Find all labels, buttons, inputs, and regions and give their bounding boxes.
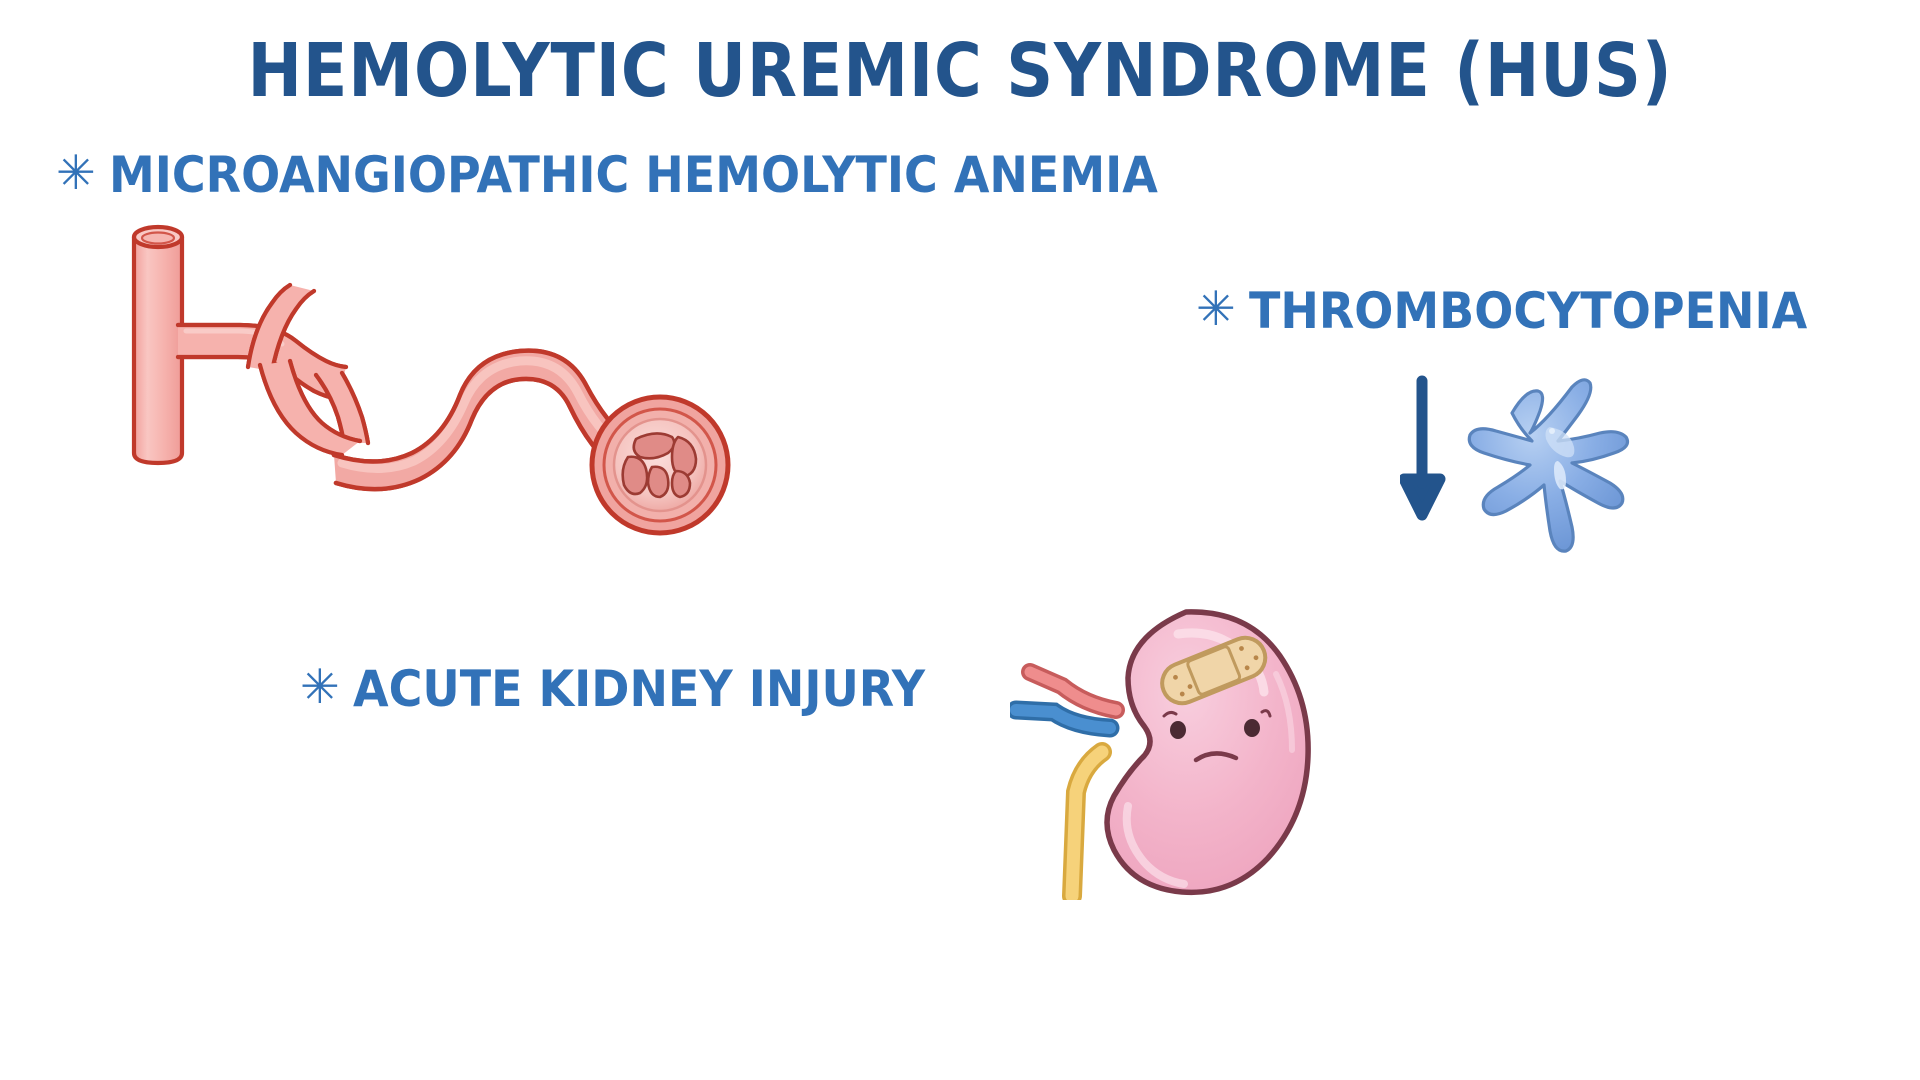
activated-platelet-icon — [1469, 380, 1627, 551]
illustration-canvas: HEMOLYTIC UREMIC SYNDROME (HUS) ✳ MICROA… — [0, 0, 1920, 1080]
bullet-label-acute-kidney-injury: ACUTE KIDNEY INJURY — [353, 660, 925, 718]
bullet-label-microangiopathic-hemolytic-anemia: MICROANGIOPATHIC HEMOLYTIC ANEMIA — [109, 146, 1158, 204]
asterisk-bullet-icon: ✳ — [300, 664, 340, 712]
bullet-thrombocytopenia: ✳ THROMBOCYTOPENIA — [1196, 282, 1856, 340]
schistocyte — [648, 467, 668, 497]
left-eye — [1170, 721, 1186, 739]
bullet-acute-kidney-injury: ✳ ACUTE KIDNEY INJURY — [300, 660, 975, 718]
schistocyte — [672, 471, 690, 497]
ureter — [1072, 752, 1102, 896]
down-arrow-icon — [1404, 381, 1440, 515]
kidney-illustration — [1010, 600, 1350, 904]
asterisk-bullet-icon: ✳ — [56, 150, 96, 198]
bullet-microangiopathic-hemolytic-anemia: ✳ MICROANGIOPATHIC HEMOLYTIC ANEMIA — [56, 146, 1249, 204]
asterisk-bullet-icon: ✳ — [1196, 286, 1236, 334]
vessel-cross-section — [592, 397, 728, 533]
vessel-trunk — [134, 227, 182, 463]
schistocyte — [623, 457, 647, 494]
page-title: HEMOLYTIC UREMIC SYNDROME (HUS) — [115, 28, 1805, 114]
bullet-label-thrombocytopenia: THROMBOCYTOPENIA — [1249, 282, 1807, 340]
right-eye — [1244, 719, 1260, 737]
blood-vessel-illustration — [120, 215, 820, 559]
platelet-illustration — [1400, 375, 1720, 579]
